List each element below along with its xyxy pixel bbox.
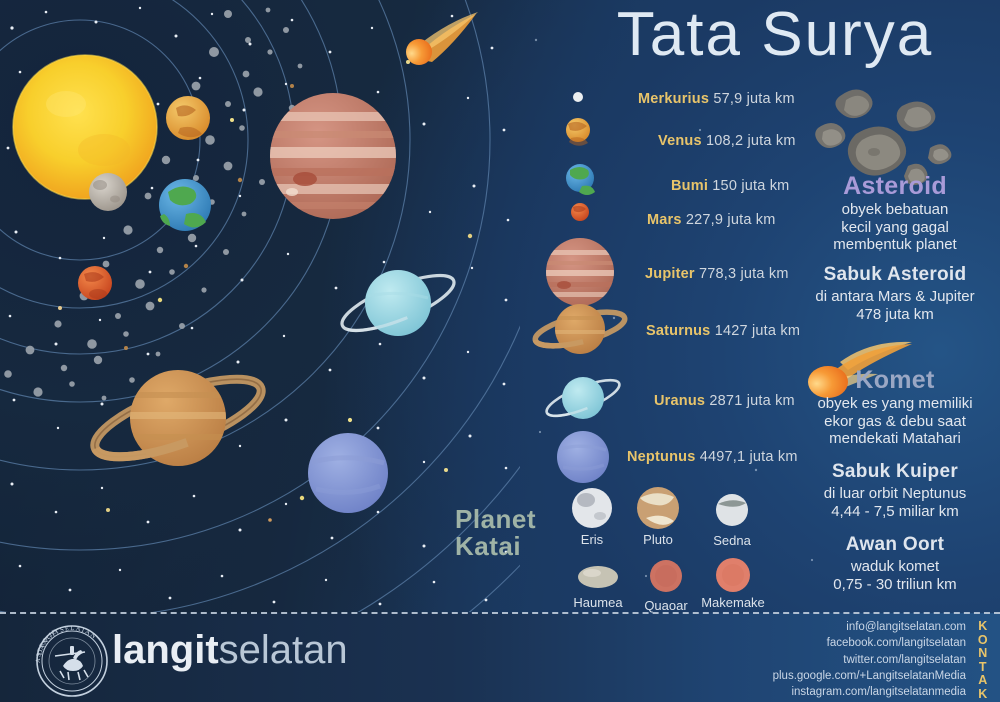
comet-desc-line3: mendekati Matahari [790, 430, 1000, 448]
kuiper-line2: 4,44 - 7,5 miliar km [790, 503, 1000, 521]
dwarf-planet-title: Planet Katai [455, 506, 555, 561]
jupiter-icon [546, 238, 616, 306]
asteroid-belt-block: Sabuk Asteroid di antara Mars & Jupiter … [790, 264, 1000, 323]
kuiper-line1: di luar orbit Neptunus [790, 485, 1000, 503]
asteroid-cluster-illustration [815, 89, 951, 185]
kontak-vertical-label: K O N T A K [972, 620, 994, 701]
brand-light: selatan [219, 628, 348, 672]
planet-name: Uranus [654, 393, 705, 409]
planet-distance: 2871 juta km [709, 393, 794, 409]
saturn-icon [532, 304, 628, 354]
kuiper-belt-block: Sabuk Kuiper di luar orbit Neptunus 4,44… [790, 461, 1000, 520]
footer-divider [0, 612, 1000, 614]
asteroid-desc-line3: membentuk planet [790, 236, 1000, 254]
comet-desc: obyek es yang memiliki ekor gas & debu s… [790, 395, 1000, 448]
makemake-body [716, 558, 750, 592]
planet-name: Merkurius [638, 91, 709, 107]
asteroid-block: Asteroid obyek bebatuan kecil yang gagal… [790, 172, 1000, 254]
asteroid-desc: obyek bebatuan kecil yang gagal membentu… [790, 201, 1000, 254]
dwarf-item-eris: Eris [555, 529, 629, 547]
planet-name: Venus [658, 133, 702, 149]
eris-body [572, 488, 612, 528]
sun [13, 55, 157, 199]
kuiper-desc: di luar orbit Neptunus 4,44 - 7,5 miliar… [790, 485, 1000, 520]
contact-instagram[interactable]: instagram.com/langitselatanmedia [773, 684, 966, 700]
dwarf-label: Quaoar [629, 598, 703, 613]
contact-googleplus[interactable]: plus.google.com/+LangitselatanMedia [773, 668, 966, 684]
asteroid-desc-line1: obyek bebatuan [790, 201, 1000, 219]
dwarf-item-quaoar: Quaoar [629, 595, 703, 613]
jupiter-planet [268, 93, 400, 219]
uranus-icon [543, 373, 624, 423]
dwarf-label: Sedna [695, 533, 769, 548]
kontak-letter: A [972, 674, 994, 688]
saturn-planet [86, 363, 269, 472]
earth-icon [566, 164, 595, 195]
oort-desc: waduk komet 0,75 - 30 triliun km [790, 558, 1000, 593]
oort-line2: 0,75 - 30 triliun km [790, 576, 1000, 594]
mercury-planet [89, 173, 127, 211]
asteroid-heading: Asteroid [790, 172, 1000, 201]
planet-name: Mars [647, 212, 682, 228]
planet-name: Bumi [671, 178, 708, 194]
neptune-planet [308, 433, 388, 513]
kontak-letter: K [972, 688, 994, 702]
asteroid-belt-line1: di antara Mars & Jupiter [790, 288, 1000, 306]
mars-planet [78, 266, 112, 300]
asteroid-belt-desc: di antara Mars & Jupiter 478 juta km [790, 288, 1000, 323]
comet-desc-line2: ekor gas & debu saat [790, 413, 1000, 431]
planet-distance: 4497,1 juta km [700, 449, 798, 465]
mars-icon [571, 203, 589, 221]
contact-twitter[interactable]: twitter.com/langitselatan [773, 652, 966, 668]
haumea-body [578, 566, 618, 588]
comet-block: Komet obyek es yang memiliki ekor gas & … [790, 366, 1000, 448]
planet-distance: 150 juta km [712, 178, 789, 194]
contact-list: info@langitselatan.com facebook.com/lang… [773, 619, 966, 701]
page-title-text: Tata Surya [617, 0, 933, 69]
sedna-body [716, 494, 748, 526]
contact-email[interactable]: info@langitselatan.com [773, 619, 966, 635]
dwarf-label: Eris [555, 532, 629, 547]
asteroid-desc-line2: kecil yang gagal [790, 219, 1000, 237]
planet-name: Neptunus [627, 449, 695, 465]
kontak-letter: T [972, 661, 994, 675]
infographic-poster: Tata Surya Merkurius 57,9 juta km Venus … [0, 0, 1000, 702]
pluto-body [637, 487, 679, 529]
dwarf-label: Makemake [696, 595, 770, 610]
quaoar-body [650, 560, 682, 592]
kontak-letter: K [972, 620, 994, 634]
oort-cloud-block: Awan Oort waduk komet 0,75 - 30 triliun … [790, 534, 1000, 593]
svg-text:LANGITSELATAN: LANGITSELATAN [37, 625, 98, 656]
planet-name: Saturnus [646, 323, 710, 339]
brand-bold: langit [112, 628, 219, 672]
dwarf-label: Pluto [621, 532, 695, 547]
earth-planet [159, 179, 211, 231]
page-title: Tata Surya [560, 4, 990, 66]
venus-icon [566, 118, 590, 146]
neptune-icon [557, 431, 609, 483]
kontak-letter: O [972, 634, 994, 648]
asteroid-belt-heading: Sabuk Asteroid [790, 264, 1000, 286]
dwarf-title-line1: Planet [455, 506, 555, 533]
dwarf-item-makemake: Makemake [696, 592, 770, 610]
brand-wordmark: langitselatan [112, 630, 348, 670]
planet-distance: 57,9 juta km [713, 91, 794, 107]
dwarf-title-line2: Katai [455, 533, 555, 560]
comet-heading: Komet [790, 366, 1000, 395]
planet-name: Jupiter [645, 266, 695, 282]
dwarf-item-sedna: Sedna [695, 530, 769, 548]
comet-desc-line1: obyek es yang memiliki [790, 395, 1000, 413]
planet-distance: 108,2 juta km [706, 133, 796, 149]
uranus-planet [336, 265, 460, 341]
langitselatan-logo: ASTRO.ID LANGITSELATAN [33, 622, 111, 700]
planet-distance: 227,9 juta km [686, 212, 776, 228]
solar-system-illustration [0, 0, 1000, 702]
oort-line1: waduk komet [790, 558, 1000, 576]
contact-facebook[interactable]: facebook.com/langitselatan [773, 635, 966, 651]
kuiper-heading: Sabuk Kuiper [790, 461, 1000, 483]
oort-heading: Awan Oort [790, 534, 1000, 556]
kontak-letter: N [972, 647, 994, 661]
comet-illustration-left [406, 12, 478, 65]
dwarf-label: Haumea [561, 595, 635, 610]
dwarf-item-haumea: Haumea [561, 592, 635, 610]
mercury-icon [573, 92, 583, 102]
asteroid-belt-line2: 478 juta km [790, 306, 1000, 324]
planet-distance: 1427 juta km [715, 323, 800, 339]
venus-planet [166, 96, 210, 140]
dwarf-item-pluto: Pluto [621, 529, 695, 547]
planet-distance: 778,3 juta km [699, 266, 789, 282]
